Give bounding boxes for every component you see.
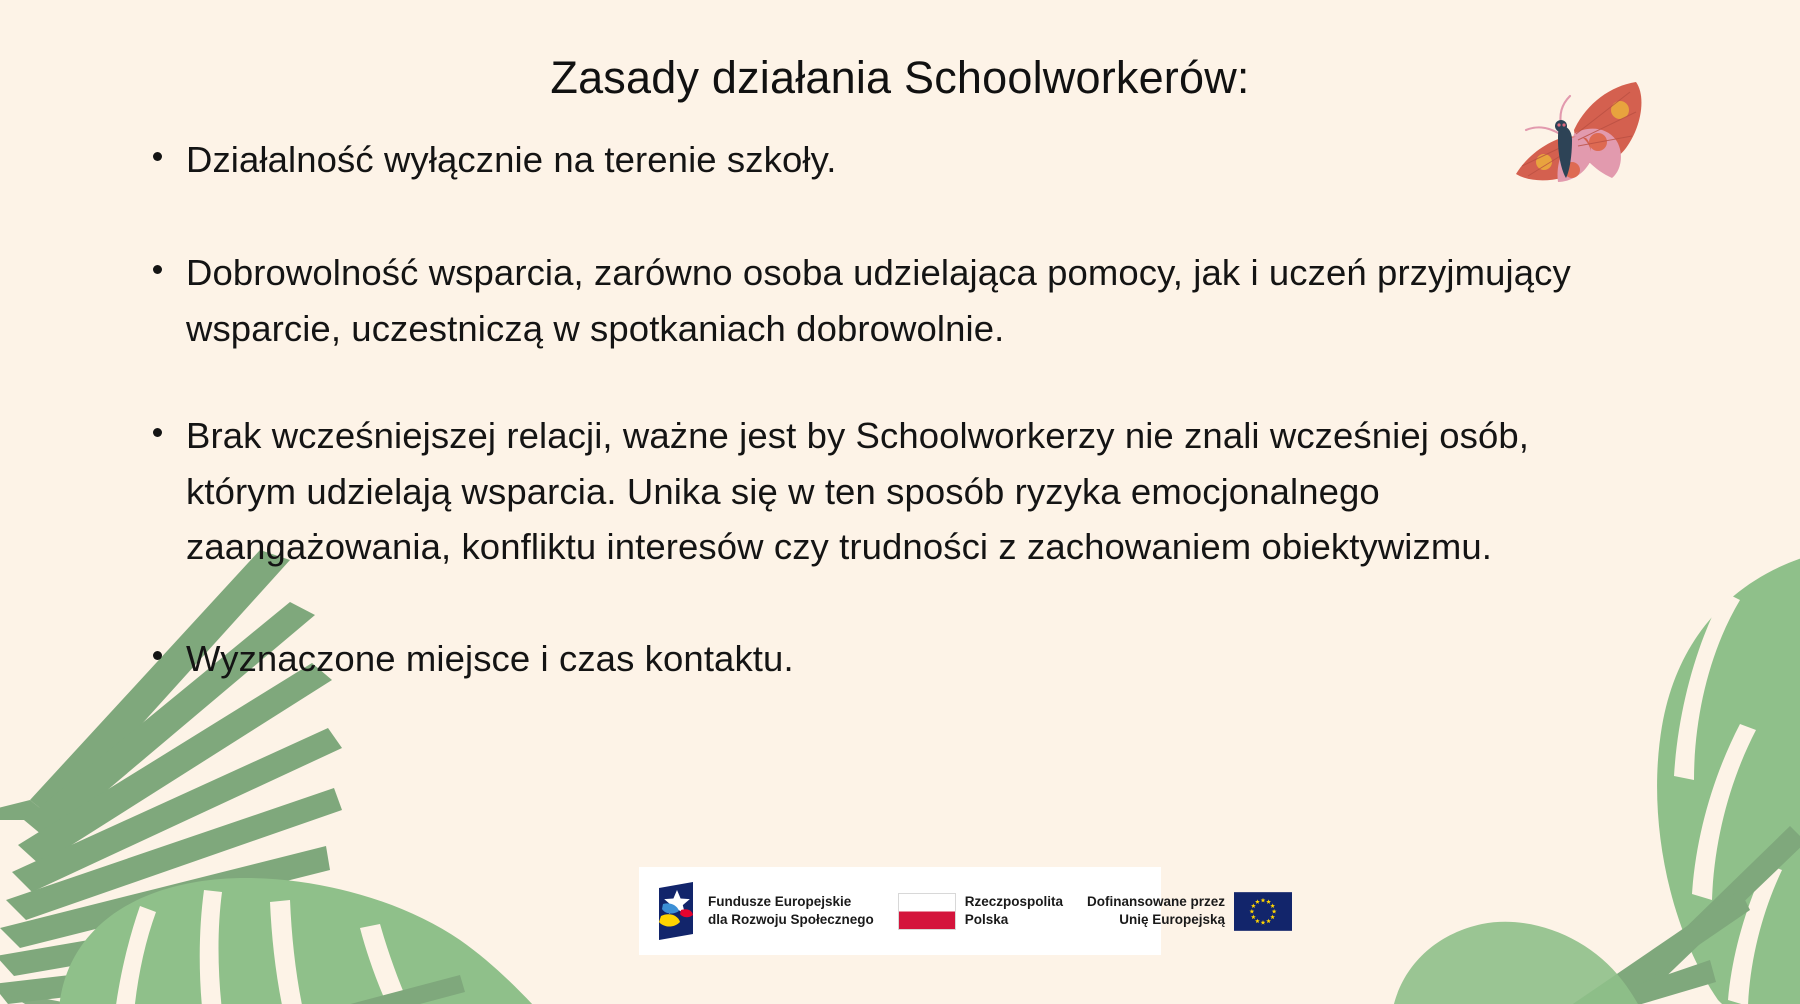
logo-fundusze-europejskie: Fundusze Europejskie dla Rozwoju Społecz… (653, 867, 874, 955)
bullet-text-4: Wyznaczone miejsce i czas kontaktu. (186, 638, 794, 679)
fundusze-europejskie-mark-icon (653, 882, 699, 940)
bullet-item-3: Brak wcześniejszej relacji, ważne jest b… (150, 408, 1580, 574)
bullet-dot-icon (153, 152, 162, 161)
unia-line-2: Unię Europejską (1087, 911, 1225, 929)
rzeczpospolita-line-1: Rzeczpospolita (965, 893, 1063, 911)
rzeczpospolita-text: Rzeczpospolita Polska (965, 893, 1063, 929)
bullet-dot-icon (153, 265, 162, 274)
slide-canvas: Zasady działania Schoolworkerów: Działal… (0, 0, 1800, 1004)
unia-text: Dofinansowane przez Unię Europejską (1087, 893, 1225, 929)
bullet-text-3: Brak wcześniejszej relacji, ważne jest b… (186, 415, 1529, 567)
bullet-item-1: Działalność wyłącznie na terenie szkoły. (150, 132, 1580, 187)
fundusze-line-1: Fundusze Europejskie (708, 893, 874, 911)
bullet-item-4: Wyznaczone miejsce i czas kontaktu. (150, 631, 1580, 686)
eu-flag-icon (1234, 892, 1292, 931)
rzeczpospolita-line-2: Polska (965, 911, 1063, 929)
eu-funding-logo-strip: Fundusze Europejskie dla Rozwoju Społecz… (639, 867, 1161, 955)
logo-unia-europejska: Dofinansowane przez Unię Europejską (1087, 867, 1292, 955)
unia-line-1: Dofinansowane przez (1087, 893, 1225, 911)
fundusze-europejskie-text: Fundusze Europejskie dla Rozwoju Społecz… (708, 893, 874, 929)
bullet-text-2: Dobrowolność wsparcia, zarówno osoba udz… (186, 252, 1571, 348)
poland-flag-icon (898, 893, 956, 930)
bullet-dot-icon (153, 428, 162, 437)
fundusze-line-2: dla Rozwoju Społecznego (708, 911, 874, 929)
bullet-dot-icon (153, 651, 162, 660)
logo-rzeczpospolita-polska: Rzeczpospolita Polska (898, 867, 1063, 955)
bullet-list: Działalność wyłącznie na terenie szkoły.… (150, 132, 1580, 686)
bullet-text-1: Działalność wyłącznie na terenie szkoły. (186, 139, 836, 180)
bullet-item-2: Dobrowolność wsparcia, zarówno osoba udz… (150, 245, 1580, 356)
slide-title: Zasady działania Schoolworkerów: (0, 52, 1800, 104)
